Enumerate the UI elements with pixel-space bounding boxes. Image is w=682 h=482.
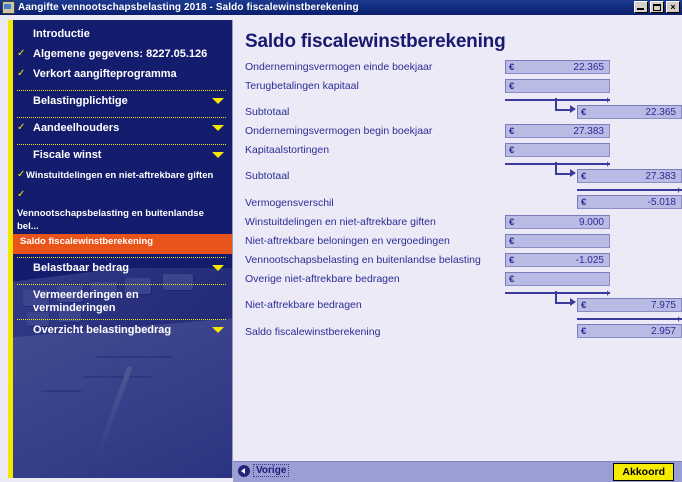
previous-button[interactable]: Vorige: [238, 464, 289, 477]
euro-symbol-icon: €: [581, 196, 586, 209]
minimize-button[interactable]: [634, 1, 648, 13]
euro-symbol-icon: €: [509, 61, 514, 74]
sidebar-item-label: Saldo fiscalewinstberekening: [17, 235, 153, 248]
sidebar-separator: [17, 284, 226, 285]
sidebar-item-label: Aandeelhouders: [26, 122, 119, 135]
form-row: Subtotaal € 27.383: [233, 168, 682, 187]
back-arrow-icon: [238, 465, 250, 477]
euro-symbol-icon: €: [581, 170, 586, 183]
form-row: Niet-aftrekbare beloningen en vergoeding…: [233, 233, 682, 252]
euro-symbol-icon: €: [509, 216, 514, 229]
sum-rule-group-5: +: [233, 316, 682, 324]
sidebar-item-label: Verkort aangifteprogramma: [26, 68, 177, 81]
plus-sign: +: [676, 187, 681, 194]
amount-field-subtotaal-2[interactable]: € 27.383: [577, 169, 682, 183]
amount-field-kapitaalstortingen[interactable]: €: [505, 143, 610, 157]
bottom-toolbar: Vorige Akkoord: [233, 461, 682, 482]
sidebar-item-label: Introductie: [17, 28, 90, 41]
sum-rule: [505, 163, 610, 165]
amount-value: -5.018: [648, 196, 676, 209]
sidebar-item-fiscale-winst[interactable]: Fiscale winst: [13, 148, 232, 168]
amount-value: -1.025: [576, 254, 604, 267]
row-label: Saldo fiscalewinstberekening: [245, 326, 380, 338]
row-label: Winstuitdelingen en niet-aftrekbare gift…: [245, 216, 436, 228]
sidebar-item-vermeerderingen-verminderingen[interactable]: Vermeerderingen en verminderingen: [13, 288, 232, 316]
app-icon: [2, 1, 15, 14]
amount-value: 2.957: [651, 325, 676, 338]
accept-button[interactable]: Akkoord: [613, 463, 674, 481]
form-row: Vermogensverschil € -5.018: [233, 195, 682, 214]
row-label: Niet-aftrekbare beloningen en vergoeding…: [245, 235, 450, 247]
sum-rule-group-4: +: [233, 290, 682, 297]
main-panel: Saldo fiscalewinstberekening Onderneming…: [233, 15, 682, 482]
sidebar-item-label: Vennootschapsbelasting en buitenlandse b…: [17, 207, 218, 233]
application-window: Aangifte vennootschapsbelasting 2018 - S…: [0, 0, 682, 482]
close-button[interactable]: ×: [666, 1, 680, 13]
amount-field-vermogensverschil[interactable]: € -5.018: [577, 195, 682, 209]
chevron-down-icon[interactable]: [212, 98, 224, 104]
row-label: Ondernemingsvermogen begin boekjaar: [245, 125, 432, 137]
amount-value: 9.000: [579, 216, 604, 229]
sidebar-item-label: Overzicht belastingbedrag: [17, 324, 171, 337]
amount-value: 27.383: [645, 170, 676, 183]
sidebar-separator: [17, 144, 226, 145]
sidebar-item-label: Algemene gegevens: 8227.05.126: [26, 48, 207, 61]
form-row: Niet-aftrekbare bedragen € 7.975: [233, 297, 682, 316]
amount-field-niet-aftrekbare-beloningen[interactable]: €: [505, 234, 610, 248]
row-label: Overige niet-aftrekbare bedragen: [245, 273, 400, 285]
row-label: Vennootschapsbelasting en buitenlandse b…: [245, 254, 481, 266]
previous-button-label: Vorige: [253, 464, 289, 477]
sidebar-item-introductie[interactable]: Introductie: [13, 27, 232, 47]
sum-rule-group-3: +: [233, 187, 682, 195]
form-row: Subtotaal € 22.365: [233, 104, 682, 123]
amount-field-winstuitdelingen[interactable]: € 9.000: [505, 215, 610, 229]
chevron-down-icon[interactable]: [212, 265, 224, 271]
sidebar-nav-list: Introductie ✓Algemene gegevens: 8227.05.…: [13, 20, 232, 343]
euro-symbol-icon: €: [509, 254, 514, 267]
form-row: Ondernemingsvermogen begin boekjaar € 27…: [233, 123, 682, 142]
sidebar-item-label: Belastingplichtige: [17, 95, 128, 108]
amount-field-vennootschapsbelasting[interactable]: € -1.025: [505, 253, 610, 267]
form-row: Overige niet-aftrekbare bedragen €: [233, 271, 682, 290]
form-row: Saldo fiscalewinstberekening € 2.957: [233, 324, 682, 343]
sidebar-item-winstuitdelingen[interactable]: ✓Winstuitdelingen en niet-aftrekbare gif…: [13, 168, 232, 188]
maximize-button[interactable]: [650, 1, 664, 13]
form-row: Ondernemingsvermogen einde boekjaar € 22…: [233, 59, 682, 78]
amount-field-saldo-fiscalewinstberekening[interactable]: € 2.957: [577, 324, 682, 338]
euro-symbol-icon: €: [509, 125, 514, 138]
amount-field-ondernemingsvermogen-begin-boekjaar[interactable]: € 27.383: [505, 124, 610, 138]
row-label: Ondernemingsvermogen einde boekjaar: [245, 61, 432, 73]
sum-rule: [577, 318, 682, 320]
plus-sign: +: [605, 97, 610, 104]
euro-symbol-icon: €: [581, 106, 586, 119]
plus-sign: +: [676, 316, 681, 323]
sidebar-separator: [17, 319, 226, 320]
form-row: Winstuitdelingen en niet-aftrekbare gift…: [233, 214, 682, 233]
chevron-down-icon[interactable]: [212, 152, 224, 158]
sum-rule: [505, 292, 610, 294]
amount-value: 27.383: [573, 125, 604, 138]
sidebar-item-algemene-gegevens[interactable]: ✓Algemene gegevens: 8227.05.126: [13, 47, 232, 67]
row-label: Vermogensverschil: [245, 197, 334, 209]
window-controls: ×: [634, 1, 680, 13]
sidebar-item-label: Winstuitdelingen en niet-aftrekbare gift…: [26, 169, 213, 182]
euro-symbol-icon: €: [581, 299, 586, 312]
calculation-form: Ondernemingsvermogen einde boekjaar € 22…: [233, 59, 682, 343]
page-title: Saldo fiscalewinstberekening: [245, 31, 505, 53]
chevron-down-icon[interactable]: [212, 327, 224, 333]
check-icon: ✓: [17, 169, 26, 180]
amount-field-terugbetalingen-kapitaal[interactable]: €: [505, 79, 610, 93]
sidebar-item-verkort-aangifteprogramma[interactable]: ✓Verkort aangifteprogramma: [13, 67, 232, 87]
amount-field-niet-aftrekbare-bedragen[interactable]: € 7.975: [577, 298, 682, 312]
sidebar-item-aandeelhouders[interactable]: ✓Aandeelhouders: [13, 121, 232, 141]
sidebar-item-label: Fiscale winst: [17, 149, 101, 162]
sidebar: Introductie ✓Algemene gegevens: 8227.05.…: [8, 20, 233, 478]
sum-rule: [505, 99, 610, 101]
amount-field-overige-niet-aftrekbare[interactable]: €: [505, 272, 610, 286]
form-row: Terugbetalingen kapitaal €: [233, 78, 682, 97]
sum-rule: [577, 189, 682, 191]
sidebar-separator: [17, 90, 226, 91]
plus-sign: +: [605, 290, 610, 297]
row-label: Terugbetalingen kapitaal: [245, 80, 359, 92]
amount-value: 22.365: [573, 61, 604, 74]
sidebar-item-label: Belastbaar bedrag: [17, 262, 129, 275]
euro-symbol-icon: €: [581, 325, 586, 338]
plus-sign: +: [605, 161, 610, 168]
sum-rule-group-2: +: [233, 161, 682, 168]
amount-field-ondernemingsvermogen-einde-boekjaar[interactable]: € 22.365: [505, 60, 610, 74]
sidebar-item-belastbaar-bedrag[interactable]: Belastbaar bedrag: [13, 261, 232, 281]
euro-symbol-icon: €: [509, 80, 514, 93]
client-area: Introductie ✓Algemene gegevens: 8227.05.…: [0, 15, 682, 482]
sidebar-separator: [17, 257, 226, 258]
euro-symbol-icon: €: [509, 273, 514, 286]
sidebar-item-label: Vermeerderingen en verminderingen: [17, 289, 218, 315]
row-label: Kapitaalstortingen: [245, 144, 329, 156]
form-row: Vennootschapsbelasting en buitenlandse b…: [233, 252, 682, 271]
row-label: Subtotaal: [245, 106, 289, 118]
sidebar-separator: [17, 117, 226, 118]
amount-field-subtotaal-1[interactable]: € 22.365: [577, 105, 682, 119]
amount-value: 7.975: [651, 299, 676, 312]
amount-value: 22.365: [645, 106, 676, 119]
form-row: Kapitaalstortingen €: [233, 142, 682, 161]
row-label: Niet-aftrekbare bedragen: [245, 299, 362, 311]
sidebar-item-belastingplichtige[interactable]: Belastingplichtige: [13, 94, 232, 114]
row-label: Subtotaal: [245, 170, 289, 182]
chevron-down-icon[interactable]: [212, 125, 224, 131]
sidebar-item-overzicht-belastingbedrag[interactable]: Overzicht belastingbedrag: [13, 323, 232, 343]
sidebar-item-saldo-fiscalewinstberekening[interactable]: Saldo fiscalewinstberekening: [13, 234, 232, 254]
sidebar-item-vennootschapsbelasting[interactable]: ✓Vennootschapsbelasting en buitenlandse …: [13, 188, 232, 234]
window-title: Aangifte vennootschapsbelasting 2018 - S…: [18, 2, 359, 13]
title-bar: Aangifte vennootschapsbelasting 2018 - S…: [0, 0, 682, 15]
check-icon: ✓: [17, 189, 26, 200]
sum-rule-group-1: +: [233, 97, 682, 104]
euro-symbol-icon: €: [509, 235, 514, 248]
euro-symbol-icon: €: [509, 144, 514, 157]
check-icon: ✓: [17, 68, 26, 79]
check-icon: ✓: [17, 48, 26, 59]
check-icon: ✓: [17, 122, 26, 133]
